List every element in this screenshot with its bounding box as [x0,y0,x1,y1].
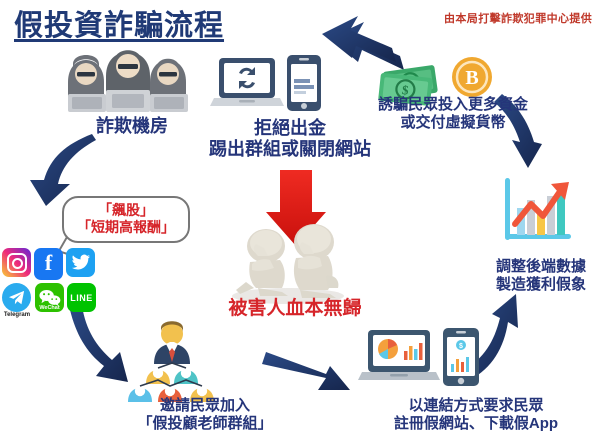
laptop-refresh-icon [210,58,284,106]
step-label-register-line1: 以連結方式要求民眾 [352,397,600,415]
step-label-refuse-line2: 踢出群組或關閉網站 [190,139,390,160]
step-label-register-line2: 註冊假網站、下載假App [352,415,600,433]
growth-chart-icon [505,178,571,240]
phone-icon [287,55,321,111]
step-label-lure-line1: 誘騙民眾投入更多資金 [358,96,548,114]
laptop-phone-chart-icon [358,330,440,380]
arrow-group-to-register [262,352,350,390]
bitcoin-icon: B [452,57,492,97]
step-label-invite-line2: 「假投顧老師群組」 [92,415,318,433]
instagram-icon[interactable] [2,248,31,277]
credit-text: 由本局打擊詐欺犯罪中心提供 [444,10,592,26]
page-title: 假投資詐騙流程 [14,2,224,44]
facebook-glyph: f [45,252,52,274]
telegram-icon[interactable] [2,283,31,312]
telegram-caption: Telegram [2,312,32,318]
svg-text:B: B [465,67,478,89]
wechat-caption: WeChat [35,305,64,311]
hackers-icon [68,50,188,112]
line-icon[interactable]: LINE [67,283,96,312]
bubble-line1: 「飆股」 [70,202,182,219]
bubble-line2: 「短期高報酬」 [70,219,182,236]
arrow-lure-to-refuse [322,16,404,70]
twitter-icon[interactable] [66,248,95,277]
step-label-invite-line1: 邀請民眾加入 [92,397,318,415]
facebook-icon[interactable]: f [34,248,63,280]
phone-chart-icon: $ [443,328,479,386]
step-label-fakeprofit-line2: 製造獲利假象 [483,276,599,294]
step-label-scam-room: 詐欺機房 [77,116,187,137]
speech-bubble: 「飆股」 「短期高報酬」 [62,196,190,243]
social-apps-group: f Telegram WeChat LINE [2,248,98,321]
wechat-icon[interactable]: WeChat [35,283,64,312]
advisor-group-icon [128,321,214,402]
step-label-lure-line2: 或交付虛擬貨幣 [358,114,548,132]
victim-label: 被害人血本無歸 [212,298,378,320]
svg-text:$: $ [459,343,463,350]
line-glyph: LINE [70,293,93,303]
step-label-fakeprofit-line1: 調整後端數據 [483,258,599,276]
